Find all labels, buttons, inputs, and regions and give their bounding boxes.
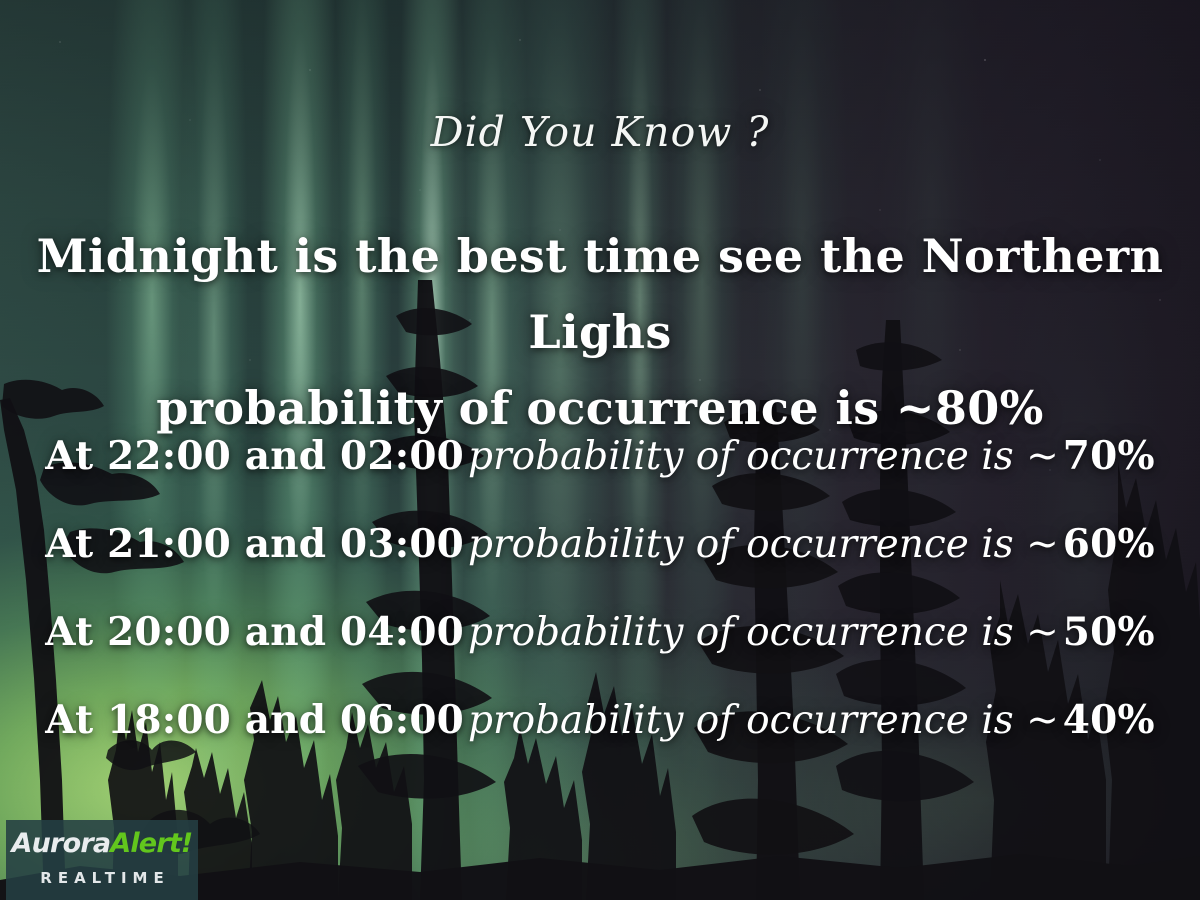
logo-wordmark: AuroraAlert! <box>12 828 193 860</box>
row-percent-value: 60% <box>1063 521 1155 567</box>
row-middle-text: probability of occurrence is ~ <box>464 434 1063 479</box>
probability-list: At 22:00 and 02:00 probability of occurr… <box>0 412 1200 764</box>
row-time-label: At 20:00 and 04:00 <box>45 609 464 655</box>
aurora-fact-poster: Did You Know ? Midnight is the best time… <box>0 0 1200 900</box>
row-percent-value: 70% <box>1063 433 1155 479</box>
row-time-label: At 18:00 and 06:00 <box>45 697 464 743</box>
row-time-label: At 21:00 and 03:00 <box>45 521 464 567</box>
logo-word-alert: Alert! <box>110 828 192 859</box>
page-title: Did You Know ? <box>0 108 1200 156</box>
logo-subtitle: REALTIME <box>34 869 169 887</box>
logo-word-aurora: Aurora <box>12 828 111 859</box>
row-percent-value: 40% <box>1063 697 1155 743</box>
row-time-label: At 22:00 and 02:00 <box>45 433 464 479</box>
row-middle-text: probability of occurrence is ~ <box>464 522 1063 567</box>
row-middle-text: probability of occurrence is ~ <box>464 698 1063 743</box>
list-item: At 21:00 and 03:00 probability of occurr… <box>0 500 1200 588</box>
list-item: At 22:00 and 02:00 probability of occurr… <box>0 412 1200 500</box>
list-item: At 20:00 and 04:00 probability of occurr… <box>0 588 1200 676</box>
row-percent-value: 50% <box>1063 609 1155 655</box>
row-middle-text: probability of occurrence is ~ <box>464 610 1063 655</box>
headline-line-1: Midnight is the best time see the Northe… <box>0 218 1200 370</box>
aurora-alert-logo[interactable]: AuroraAlert! REALTIME <box>6 820 198 900</box>
poster-text-overlay: Did You Know ? Midnight is the best time… <box>0 0 1200 900</box>
list-item: At 18:00 and 06:00 probability of occurr… <box>0 676 1200 764</box>
